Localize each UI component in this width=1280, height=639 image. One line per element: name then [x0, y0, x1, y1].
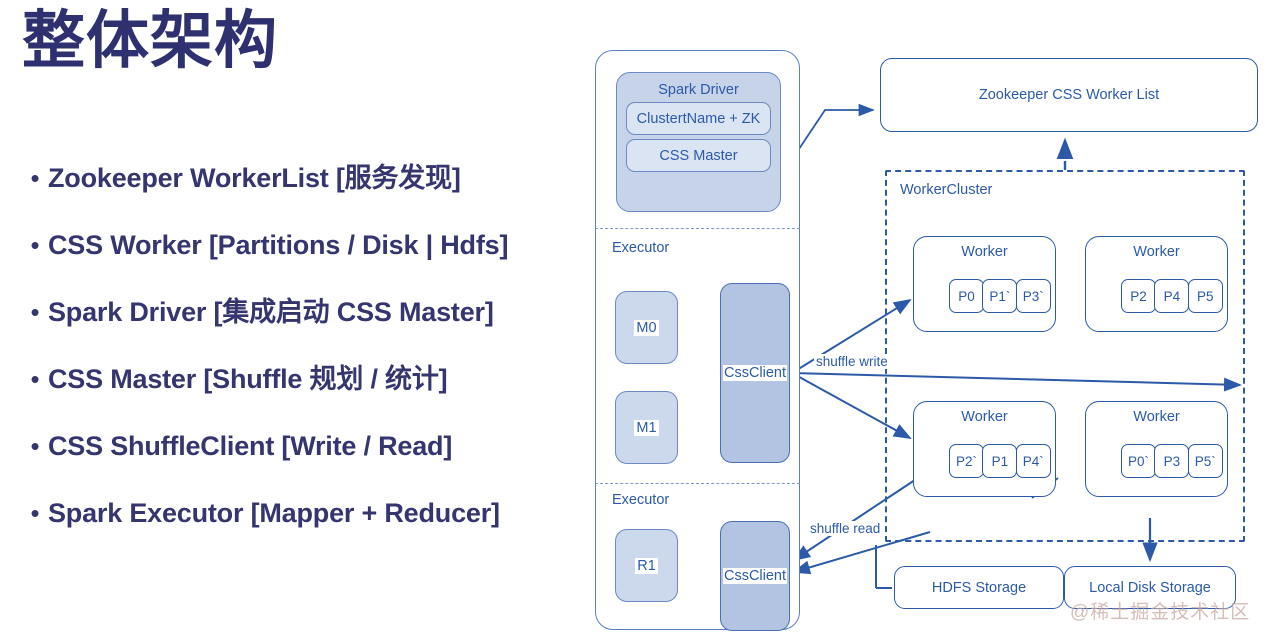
task-label: M1 [634, 420, 658, 436]
worker-title: Worker [961, 409, 1007, 425]
worker-cluster-label: WorkerCluster [900, 182, 992, 198]
list-item-label: CSS Worker [Partitions / Disk | Hdfs] [48, 225, 508, 265]
zookeeper-worker-list-label: Zookeeper CSS Worker List [979, 87, 1159, 103]
bullet-marker-icon: • [22, 493, 48, 533]
task-label: M0 [634, 320, 658, 336]
bullet-marker-icon: • [22, 292, 48, 332]
css-client-box-2[interactable]: CssClient [720, 521, 790, 631]
css-client-box-1[interactable]: CssClient [720, 283, 790, 463]
bullet-marker-icon: • [22, 158, 48, 198]
list-item: • CSS Worker [Partitions / Disk | Hdfs] [22, 225, 582, 292]
worker-title: Worker [1133, 409, 1179, 425]
partition-cell[interactable]: P3 [1154, 444, 1189, 478]
worker-title: Worker [1133, 244, 1179, 260]
task-box-m1[interactable]: M1 [615, 391, 678, 464]
list-item: • CSS ShuffleClient [Write / Read] [22, 426, 582, 493]
driver-item-label: ClustertName + ZK [637, 111, 761, 127]
bullet-list: • Zookeeper WorkerList [服务发现] • CSS Work… [22, 158, 582, 560]
hdfs-storage-box[interactable]: HDFS Storage [894, 566, 1064, 609]
partition-cell[interactable]: P0` [1121, 444, 1156, 478]
hdfs-storage-label: HDFS Storage [932, 580, 1026, 596]
list-item: • Spark Driver [集成启动 CSS Master] [22, 292, 582, 359]
shuffle-write-label: shuffle write [814, 354, 890, 369]
page-title: 整体架构 [22, 8, 278, 74]
slide-root: 整体架构 • Zookeeper WorkerList [服务发现] • CSS… [0, 0, 1280, 639]
partition-group-3: P2` P1 P4` [949, 444, 1049, 478]
list-item-label: Zookeeper WorkerList [服务发现] [48, 158, 461, 198]
bullet-marker-icon: • [22, 225, 48, 265]
partition-group-1: P0 P1` P3` [949, 279, 1049, 313]
driver-item-clustername-zk[interactable]: ClustertName + ZK [626, 102, 771, 135]
bullet-marker-icon: • [22, 426, 48, 466]
architecture-diagram: Spark Driver ClustertName + ZK CSS Maste… [580, 0, 1280, 639]
spark-driver-title: Spark Driver [658, 82, 739, 98]
partition-cell[interactable]: P2` [949, 444, 984, 478]
executor-label-2: Executor [612, 492, 669, 508]
task-box-r1[interactable]: R1 [615, 529, 678, 602]
worker-title: Worker [961, 244, 1007, 260]
executor-label-1: Executor [612, 240, 669, 256]
list-item: • CSS Master [Shuffle 规划 / 统计] [22, 359, 582, 426]
partition-group-4: P0` P3 P5` [1121, 444, 1221, 478]
partition-cell[interactable]: P4` [1016, 444, 1051, 478]
task-label: R1 [635, 558, 658, 574]
css-client-label: CssClient [723, 365, 787, 381]
driver-item-label: CSS Master [659, 148, 737, 164]
list-item-label: CSS ShuffleClient [Write / Read] [48, 426, 452, 466]
executor-divider-2 [595, 483, 800, 484]
partition-cell[interactable]: P3` [1016, 279, 1051, 313]
bullet-marker-icon: • [22, 359, 48, 399]
partition-cell[interactable]: P5` [1188, 444, 1223, 478]
shuffle-read-label: shuffle read [808, 521, 882, 536]
list-item-label: CSS Master [Shuffle 规划 / 统计] [48, 359, 447, 399]
partition-cell[interactable]: P1` [982, 279, 1017, 313]
executor-divider-1 [595, 228, 800, 229]
list-item: • Spark Executor [Mapper + Reducer] [22, 493, 582, 560]
partition-cell[interactable]: P1 [982, 444, 1017, 478]
list-item-label: Spark Executor [Mapper + Reducer] [48, 493, 500, 533]
partition-group-2: P2 P4 P5 [1121, 279, 1221, 313]
driver-item-css-master[interactable]: CSS Master [626, 139, 771, 172]
partition-cell[interactable]: P5 [1188, 279, 1223, 313]
task-box-m0[interactable]: M0 [615, 291, 678, 364]
left-content-column: 整体架构 • Zookeeper WorkerList [服务发现] • CSS… [0, 0, 580, 639]
css-client-label: CssClient [723, 568, 787, 584]
zookeeper-worker-list-box[interactable]: Zookeeper CSS Worker List [880, 58, 1258, 132]
list-item-label: Spark Driver [集成启动 CSS Master] [48, 292, 494, 332]
watermark: @稀土掘金技术社区 [1070, 597, 1250, 624]
local-disk-storage-label: Local Disk Storage [1089, 580, 1211, 596]
partition-cell[interactable]: P2 [1121, 279, 1156, 313]
list-item: • Zookeeper WorkerList [服务发现] [22, 158, 582, 225]
partition-cell[interactable]: P0 [949, 279, 984, 313]
partition-cell[interactable]: P4 [1154, 279, 1189, 313]
